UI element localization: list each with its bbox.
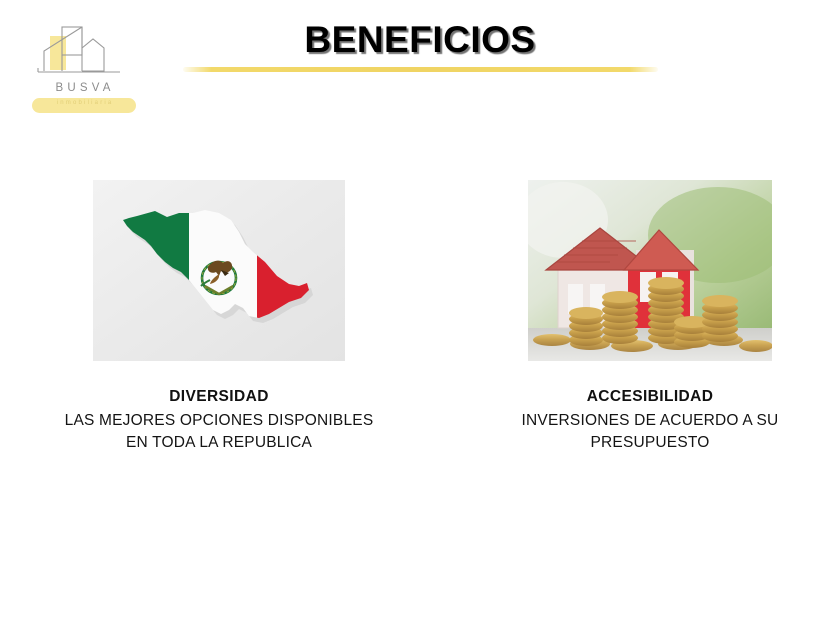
title-underline-rule (183, 67, 658, 72)
mexico-map-flag-image (93, 180, 345, 361)
benefit-card-accesibilidad: ACCESIBILIDAD INVERSIONES DE ACUERDO A S… (528, 180, 772, 453)
house-and-coins-image (528, 180, 772, 361)
card-body: INVERSIONES DE ACUERDO A SU PRESUPUESTO (485, 410, 815, 453)
card-body: LAS MEJORES OPCIONES DISPONIBLES EN TODA… (24, 410, 414, 453)
card-caption: ACCESIBILIDAD INVERSIONES DE ACUERDO A S… (485, 386, 815, 453)
page-title: BENEFICIOS (0, 19, 840, 61)
benefit-card-diversidad: DIVERSIDAD LAS MEJORES OPCIONES DISPONIB… (93, 180, 345, 453)
card-heading: ACCESIBILIDAD (485, 386, 815, 407)
card-caption: DIVERSIDAD LAS MEJORES OPCIONES DISPONIB… (24, 386, 414, 453)
logo-tagline: inmobiliaria (32, 100, 136, 106)
card-heading: DIVERSIDAD (24, 386, 414, 407)
logo-wordmark: BUSVA (24, 82, 142, 94)
logo-tagline-pill: inmobiliaria (32, 98, 136, 113)
